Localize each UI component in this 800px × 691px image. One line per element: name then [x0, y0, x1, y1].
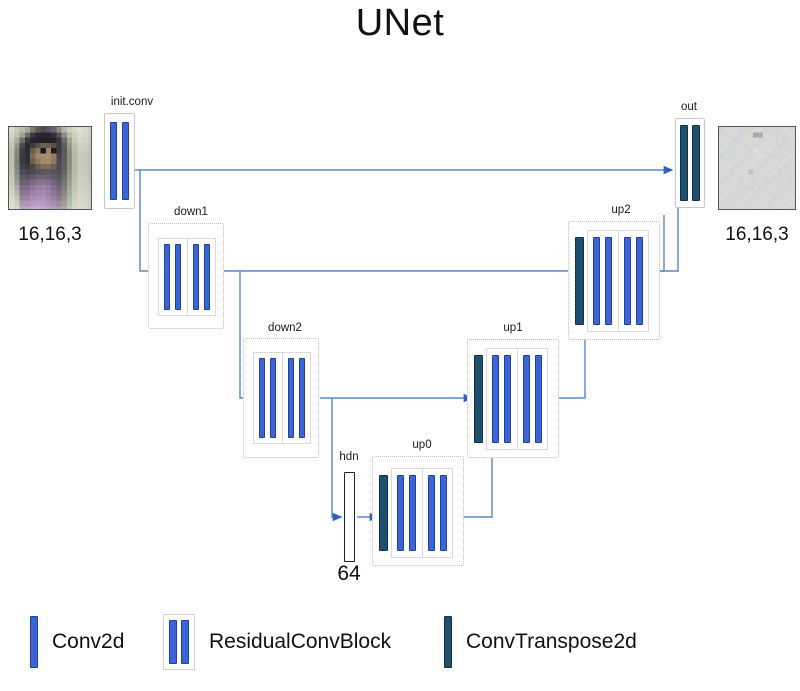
- block-down2[interactable]: [243, 338, 319, 458]
- residualconvblock-icon: [163, 614, 195, 670]
- residual-group: [588, 231, 619, 331]
- conv2d-bar: [440, 475, 447, 551]
- residual-conv-block: [486, 348, 548, 450]
- conv2d-bar: [504, 355, 511, 443]
- convtranspose2d-bar: [692, 125, 700, 201]
- output-noise-image: [718, 126, 796, 210]
- convtranspose2d-bar: [575, 237, 584, 325]
- input-face-image: [8, 126, 92, 210]
- residual-conv-block: [158, 238, 216, 316]
- legend-label-convtranspose2d: ConvTranspose2d: [466, 630, 637, 654]
- legend-item-conv2d[interactable]: Conv2d: [30, 616, 124, 668]
- page-title: UNet: [0, 2, 800, 45]
- convtranspose2d-bar: [680, 125, 688, 201]
- hdn-value-label: 64: [322, 562, 376, 586]
- block-init-conv[interactable]: [104, 113, 135, 209]
- residual-group: [518, 349, 548, 449]
- conv2d-icon: [30, 616, 38, 668]
- up1-label: up1: [486, 322, 540, 334]
- legend-label-conv2d: Conv2d: [52, 630, 124, 654]
- output-size-label: 16,16,3: [718, 224, 796, 246]
- residual-group: [188, 239, 216, 315]
- residual-group: [487, 349, 518, 449]
- residual-group: [159, 239, 188, 315]
- residual-group: [619, 231, 649, 331]
- down1-label: down1: [160, 206, 222, 218]
- convtranspose2d-icon: [444, 616, 452, 668]
- conv2d-bar: [624, 237, 631, 325]
- conv2d-bar: [636, 237, 643, 325]
- conv2d-bar: [605, 237, 612, 325]
- conv2d-bar: [288, 358, 294, 438]
- legend: Conv2d ResidualConvBlock ConvTranspose2d: [0, 604, 800, 684]
- conv2d-bar: [204, 244, 210, 310]
- residual-group: [423, 469, 453, 557]
- conv2d-bar: [409, 475, 416, 551]
- input-size-label: 16,16,3: [8, 224, 92, 246]
- up2-label: up2: [594, 204, 648, 216]
- legend-item-residualconvblock[interactable]: ResidualConvBlock: [163, 614, 391, 670]
- conv2d-bar: [122, 122, 129, 200]
- up0-label: up0: [395, 439, 449, 451]
- hidden-vector-bar: [344, 472, 355, 562]
- block-hdn[interactable]: [342, 472, 356, 562]
- init-conv-label: init.conv: [101, 96, 163, 108]
- conv2d-bar: [193, 244, 199, 310]
- conv2d-bar: [428, 475, 435, 551]
- conv2d-bar: [110, 122, 117, 200]
- diagram-canvas: UNet: [0, 0, 800, 691]
- block-up2[interactable]: [568, 221, 660, 340]
- conv2d-bar: [397, 475, 404, 551]
- block-up0[interactable]: [372, 456, 464, 566]
- convtranspose2d-bar: [379, 475, 388, 551]
- convtranspose2d-bar: [474, 355, 483, 443]
- conv2d-bar: [270, 358, 276, 438]
- conv2d-bar: [259, 358, 265, 438]
- conv2d-bar: [523, 355, 530, 443]
- block-up1[interactable]: [467, 339, 559, 458]
- residual-group: [283, 353, 311, 443]
- block-out[interactable]: [675, 118, 705, 208]
- residual-conv-block: [253, 352, 311, 444]
- conv2d-bar: [299, 358, 305, 438]
- block-down1[interactable]: [148, 223, 224, 329]
- down2-label: down2: [254, 322, 316, 334]
- legend-label-residualconvblock: ResidualConvBlock: [209, 630, 391, 654]
- conv2d-bar: [492, 355, 499, 443]
- residual-group: [254, 353, 283, 443]
- conv2d-bar: [164, 244, 170, 310]
- residual-conv-block: [391, 468, 453, 558]
- out-label: out: [667, 101, 711, 113]
- hdn-label: hdn: [327, 451, 371, 463]
- residual-group: [392, 469, 423, 557]
- legend-item-convtranspose2d[interactable]: ConvTranspose2d: [444, 616, 637, 668]
- conv2d-bar: [175, 244, 181, 310]
- conv2d-bar: [593, 237, 600, 325]
- conv2d-bar: [535, 355, 542, 443]
- residual-conv-block: [587, 230, 649, 332]
